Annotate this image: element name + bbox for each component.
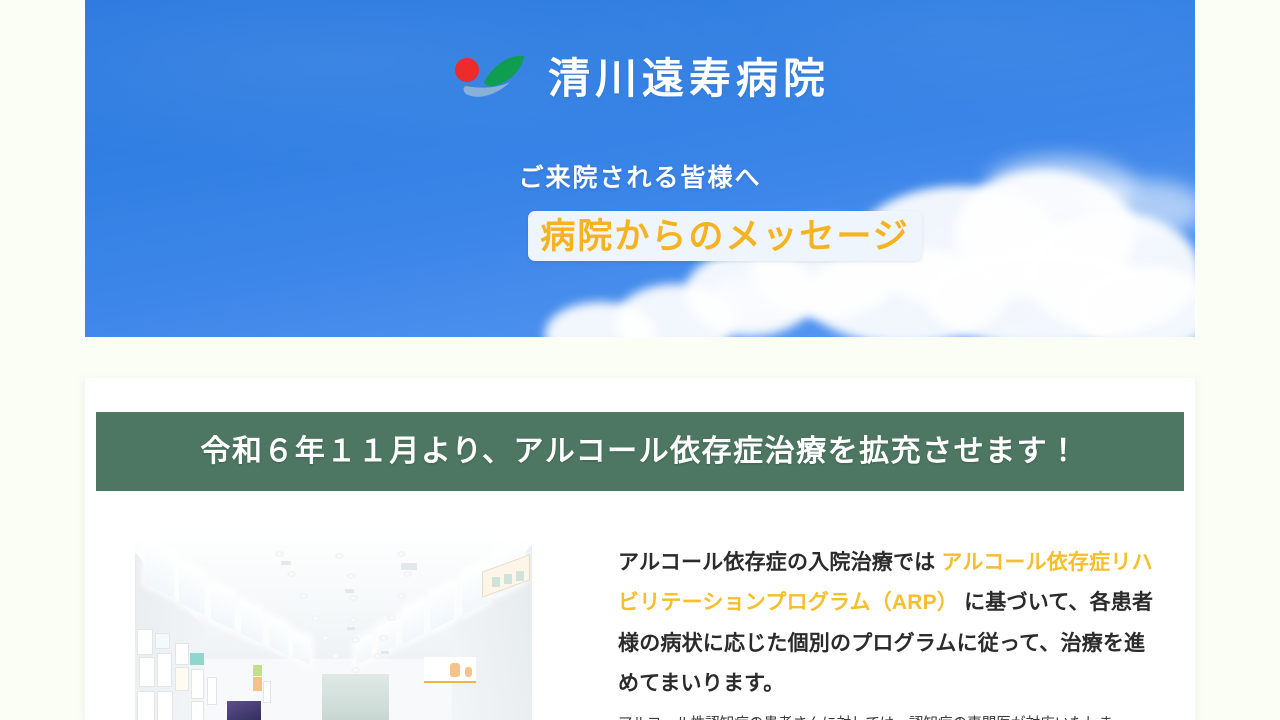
- hospital-corridor-photo: [135, 541, 532, 720]
- hero-subtitle: ご来院される皆様へ: [85, 163, 1195, 193]
- announcement-headline: 令和６年１１月より、アルコール依存症治療を拡充させます！: [200, 437, 1079, 467]
- hero-banner: 清川遠寿病院 ご来院される皆様へ 病院からのメッセージ: [85, 0, 1195, 337]
- announcement-body: アルコール依存症の入院治療では アルコール依存症リハビリテーションプログラム（A…: [85, 541, 1195, 720]
- announcement-lead-paragraph: アルコール依存症の入院治療では アルコール依存症リハビリテーションプログラム（A…: [618, 543, 1158, 704]
- lead-part-1: アルコール依存症の入院治療では: [618, 551, 941, 574]
- hospital-message-button-label: 病院からのメッセージ: [540, 219, 909, 254]
- leaf-swoosh-logo-icon: [450, 48, 528, 110]
- announcement-note: アルコール性認知症の患者さんに対しては、認知症の専門医が対応いたしま: [618, 712, 1158, 720]
- site-logo[interactable]: 清川遠寿病院: [85, 48, 1195, 110]
- hospital-name: 清川遠寿病院: [548, 58, 830, 100]
- announcement-card: 令和６年１１月より、アルコール依存症治療を拡充させます！: [85, 378, 1195, 720]
- hospital-message-button[interactable]: 病院からのメッセージ: [528, 211, 922, 261]
- announcement-text-column: アルコール依存症の入院治療では アルコール依存症リハビリテーションプログラム（A…: [618, 541, 1158, 720]
- announcement-headline-banner: 令和６年１１月より、アルコール依存症治療を拡充させます！: [96, 412, 1184, 491]
